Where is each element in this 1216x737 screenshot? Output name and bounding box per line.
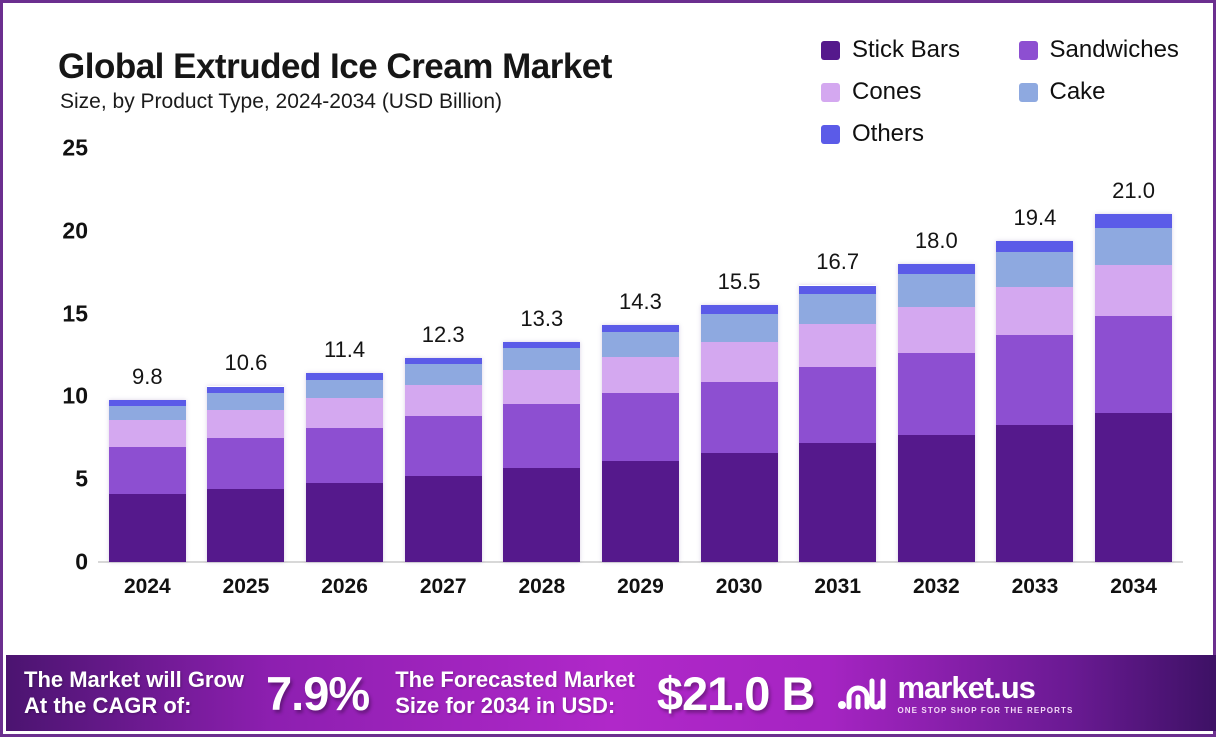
logo-text: market.us ONE STOP SHOP FOR THE REPORTS	[897, 672, 1073, 715]
bar-segment-cones	[701, 342, 778, 382]
bar-segment-others	[1095, 214, 1172, 227]
bar-segment-cones	[799, 324, 876, 367]
bar-stack	[1095, 214, 1172, 562]
bar-stack	[306, 373, 383, 562]
y-axis-tick: 0	[75, 549, 88, 576]
bar-segment-sandwiches	[602, 393, 679, 461]
bar-segment-sandwiches	[207, 438, 284, 489]
legend-item-stick-bars[interactable]: Stick Bars	[821, 29, 1019, 71]
legend-item-cake[interactable]: Cake	[1019, 71, 1216, 113]
x-axis-label: 2033	[991, 575, 1079, 599]
bar-column[interactable]: 13.3	[498, 148, 586, 562]
x-axis-label: 2030	[695, 575, 783, 599]
legend-swatch-icon	[821, 83, 840, 102]
bar-segment-sandwiches	[503, 404, 580, 468]
bar-segment-cones	[996, 287, 1073, 335]
bar-segment-cones	[109, 420, 186, 446]
bar-segment-stick-bars	[405, 476, 482, 562]
bar-segment-cones	[602, 357, 679, 393]
bar-segment-sandwiches	[405, 416, 482, 476]
page-subtitle: Size, by Product Type, 2024-2034 (USD Bi…	[60, 90, 502, 114]
bar-value-label: 19.4	[991, 205, 1079, 231]
bar-value-label: 21.0	[1090, 178, 1178, 204]
logo-tagline: ONE STOP SHOP FOR THE REPORTS	[897, 706, 1073, 715]
bar-segment-sandwiches	[799, 367, 876, 443]
bar-stack	[503, 342, 580, 562]
bar-segment-cake	[602, 332, 679, 357]
bar-segment-stick-bars	[306, 483, 383, 562]
infographic-frame: Global Extruded Ice Cream Market Size, b…	[0, 0, 1216, 737]
y-axis-tick: 15	[62, 300, 88, 327]
x-axis-labels: 2024202520262027202820292030203120322033…	[98, 575, 1183, 599]
bar-column[interactable]: 21.0	[1090, 148, 1178, 562]
legend-item-sandwiches[interactable]: Sandwiches	[1019, 29, 1216, 71]
bar-value-label: 16.7	[794, 249, 882, 275]
bar-segment-cake	[1095, 228, 1172, 265]
bar-column[interactable]: 12.3	[399, 148, 487, 562]
bar-segment-others	[306, 373, 383, 380]
x-axis-label: 2029	[596, 575, 684, 599]
legend-label: Sandwiches	[1050, 36, 1179, 64]
cagr-label-line2: At the CAGR of:	[24, 693, 244, 719]
bar-segment-cake	[207, 393, 284, 410]
legend-swatch-icon	[1019, 83, 1038, 102]
y-axis: 0510152025	[33, 148, 88, 562]
bar-segment-others	[602, 325, 679, 332]
bar-segment-stick-bars	[503, 468, 580, 562]
bar-segment-others	[996, 241, 1073, 253]
bar-segment-sandwiches	[898, 353, 975, 435]
legend-swatch-icon	[821, 41, 840, 60]
bar-column[interactable]: 9.8	[103, 148, 191, 562]
bar-value-label: 14.3	[596, 289, 684, 315]
bar-value-label: 18.0	[892, 228, 980, 254]
cagr-value: 7.9%	[266, 666, 369, 721]
bar-segment-cake	[898, 274, 975, 307]
forecast-label: The Forecasted Market Size for 2034 in U…	[395, 667, 635, 718]
x-axis-label: 2034	[1090, 575, 1178, 599]
legend-label: Others	[852, 120, 924, 148]
bar-segment-stick-bars	[799, 443, 876, 562]
logo-mark-icon	[836, 673, 888, 713]
bar-segment-cake	[306, 380, 383, 398]
bar-column[interactable]: 15.5	[695, 148, 783, 562]
bar-segment-cones	[1095, 265, 1172, 316]
bar-segment-cones	[898, 307, 975, 353]
logo-name: market.us	[897, 672, 1073, 703]
bar-segment-stick-bars	[1095, 413, 1172, 562]
x-axis-label: 2027	[399, 575, 487, 599]
bar-stack	[405, 358, 482, 562]
bar-stack	[898, 264, 975, 562]
bar-column[interactable]: 14.3	[596, 148, 684, 562]
bar-segment-cones	[503, 370, 580, 404]
legend-label: Cake	[1050, 78, 1106, 106]
x-axis-label: 2032	[892, 575, 980, 599]
bar-segment-stick-bars	[898, 435, 975, 563]
bar-stack	[109, 400, 186, 562]
bar-segment-stick-bars	[701, 453, 778, 562]
bar-stack	[207, 386, 284, 562]
bar-segment-cake	[701, 314, 778, 342]
bar-stack	[701, 305, 778, 562]
bar-column[interactable]: 18.0	[892, 148, 980, 562]
bar-series-area: 9.810.611.412.313.314.315.516.718.019.42…	[98, 148, 1183, 562]
page-title: Global Extruded Ice Cream Market	[58, 47, 612, 87]
bar-segment-cake	[996, 252, 1073, 287]
bar-stack	[996, 241, 1073, 562]
legend-swatch-icon	[1019, 41, 1038, 60]
bar-segment-cake	[405, 364, 482, 385]
bar-segment-cake	[503, 348, 580, 370]
x-axis-label: 2028	[498, 575, 586, 599]
bar-segment-cake	[799, 294, 876, 324]
x-axis-label: 2024	[103, 575, 191, 599]
bar-segment-others	[207, 387, 284, 394]
bar-column[interactable]: 16.7	[794, 148, 882, 562]
bar-value-label: 9.8	[103, 364, 191, 390]
bar-segment-sandwiches	[109, 447, 186, 494]
forecast-label-line2: Size for 2034 in USD:	[395, 693, 635, 719]
y-axis-tick: 10	[62, 383, 88, 410]
market-us-logo: market.us ONE STOP SHOP FOR THE REPORTS	[836, 672, 1073, 715]
bar-stack	[602, 325, 679, 562]
legend-label: Cones	[852, 78, 921, 106]
bar-segment-sandwiches	[1095, 316, 1172, 413]
x-axis-label: 2031	[794, 575, 882, 599]
bar-segment-cones	[405, 385, 482, 416]
y-axis-tick: 20	[62, 217, 88, 244]
bar-value-label: 15.5	[695, 269, 783, 295]
bar-value-label: 13.3	[498, 306, 586, 332]
bar-column[interactable]: 10.6	[202, 148, 290, 562]
forecast-value: $21.0 B	[657, 666, 815, 721]
bar-stack	[799, 285, 876, 562]
bar-segment-stick-bars	[996, 425, 1073, 562]
bar-segment-cones	[207, 410, 284, 438]
bar-segment-stick-bars	[109, 494, 186, 562]
bar-segment-sandwiches	[306, 428, 383, 483]
bar-value-label: 12.3	[399, 322, 487, 348]
bar-segment-others	[898, 264, 975, 274]
bar-value-label: 10.6	[202, 350, 290, 376]
legend-swatch-icon	[821, 125, 840, 144]
footer-banner: The Market will Grow At the CAGR of: 7.9…	[6, 655, 1216, 731]
bar-column[interactable]: 19.4	[991, 148, 1079, 562]
bar-value-label: 11.4	[301, 337, 389, 363]
legend-label: Stick Bars	[852, 36, 960, 64]
bar-segment-others	[799, 286, 876, 294]
bar-segment-cake	[109, 406, 186, 421]
bar-segment-sandwiches	[996, 335, 1073, 424]
x-axis-label: 2025	[202, 575, 290, 599]
bar-segment-cones	[306, 398, 383, 428]
bar-segment-stick-bars	[602, 461, 679, 562]
chart-legend: Stick BarsSandwichesConesCakeOthers	[821, 29, 1216, 155]
y-axis-tick: 25	[62, 135, 88, 162]
forecast-label-line1: The Forecasted Market	[395, 667, 635, 693]
legend-item-cones[interactable]: Cones	[821, 71, 1019, 113]
y-axis-tick: 5	[75, 466, 88, 493]
bar-segment-stick-bars	[207, 489, 284, 562]
cagr-label: The Market will Grow At the CAGR of:	[24, 667, 244, 718]
x-axis-label: 2026	[301, 575, 389, 599]
bar-column[interactable]: 11.4	[301, 148, 389, 562]
bar-segment-others	[701, 305, 778, 313]
cagr-label-line1: The Market will Grow	[24, 667, 244, 693]
bar-segment-sandwiches	[701, 382, 778, 453]
